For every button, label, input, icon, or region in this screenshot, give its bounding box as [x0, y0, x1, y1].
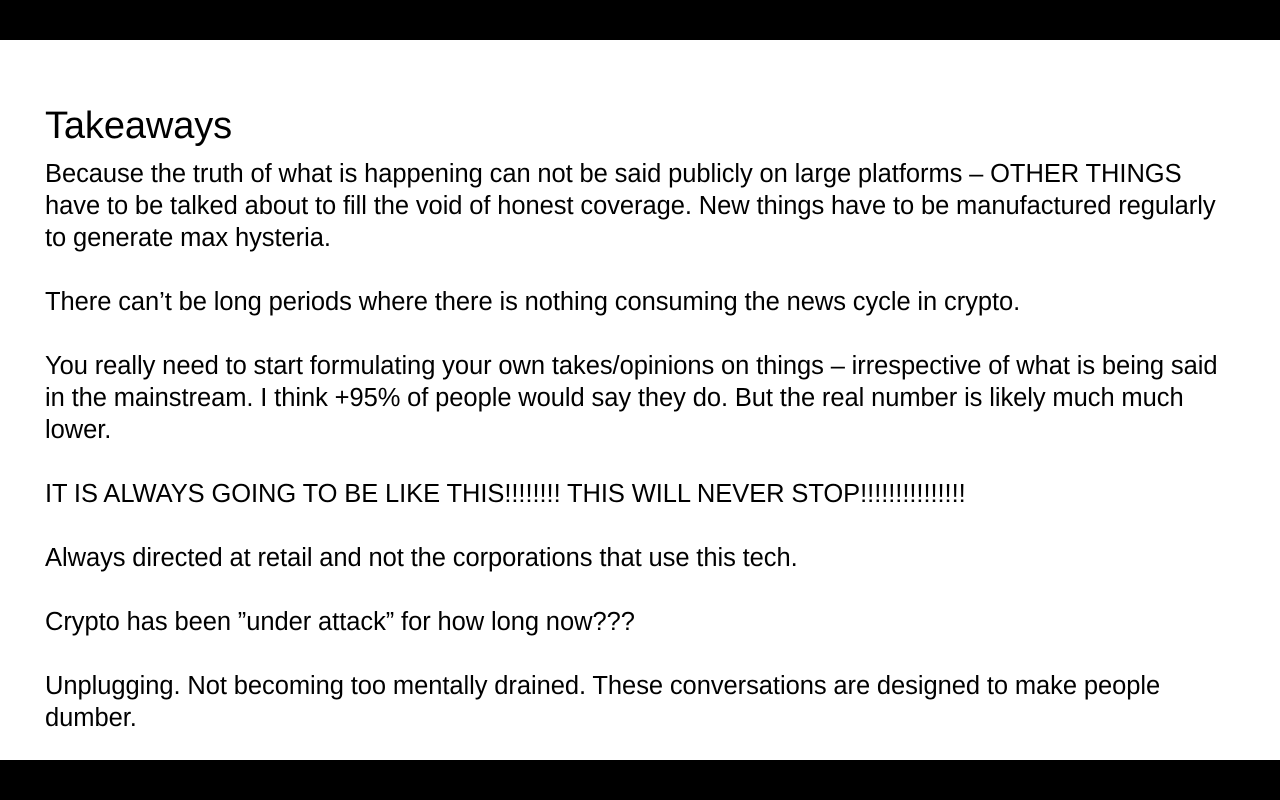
slide-body-text-block: Because the truth of what is happening c… — [45, 158, 1237, 734]
page-title: Takeaways — [45, 105, 1235, 148]
body-paragraph: Because the truth of what is happening c… — [45, 158, 1237, 254]
body-paragraph: Always directed at retail and not the co… — [45, 542, 1237, 574]
letterbox-bar-bottom — [0, 760, 1280, 800]
body-paragraph: You really need to start formulating you… — [45, 350, 1237, 446]
body-paragraph: Unplugging. Not becoming too mentally dr… — [45, 670, 1237, 734]
slide-canvas: Takeaways Because the truth of what is h… — [0, 40, 1280, 760]
slide-viewport: Takeaways Because the truth of what is h… — [0, 0, 1280, 800]
body-paragraph: There can’t be long periods where there … — [45, 286, 1237, 318]
letterbox-bar-top — [0, 0, 1280, 40]
body-paragraph: Crypto has been ”under attack” for how l… — [45, 606, 1237, 638]
body-paragraph: IT IS ALWAYS GOING TO BE LIKE THIS!!!!!!… — [45, 478, 1237, 510]
